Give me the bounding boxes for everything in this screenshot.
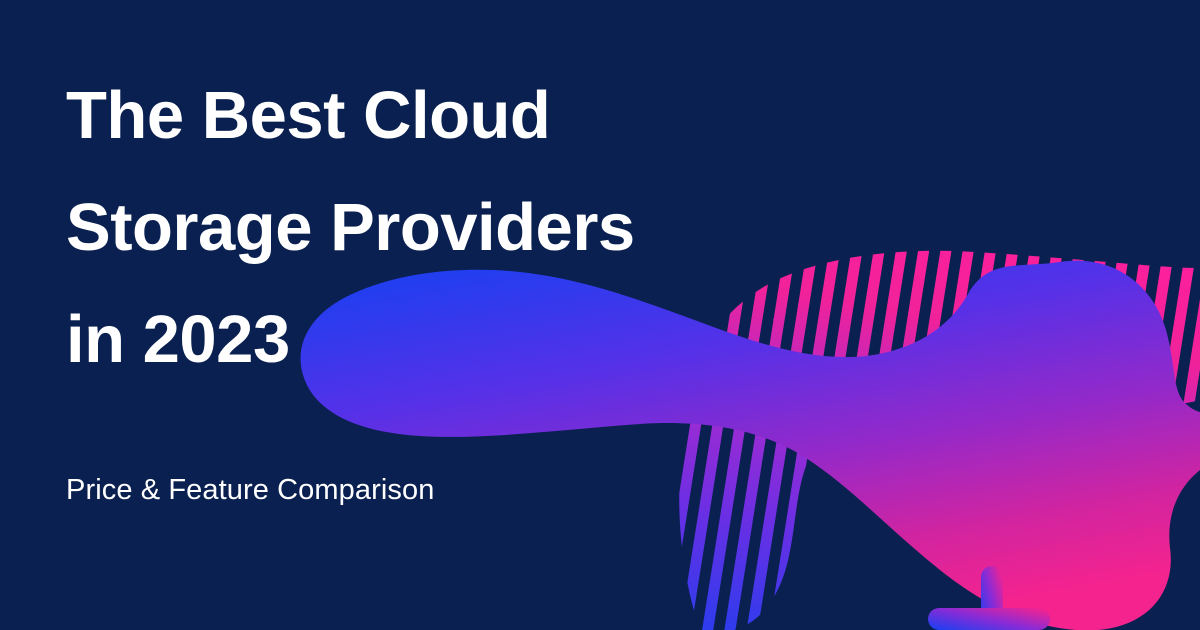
headline-line-1: The Best Cloud <box>66 60 706 172</box>
headline-line-3: in 2023 <box>66 284 706 396</box>
page-title: The Best Cloud Storage Providers in 2023 <box>66 60 706 396</box>
headline-block: The Best Cloud Storage Providers in 2023 <box>66 60 706 396</box>
subtitle: Price & Feature Comparison <box>66 471 434 509</box>
plus-shape <box>928 566 1050 630</box>
cloud-storage-banner: The Best Cloud Storage Providers in 2023… <box>0 0 1200 630</box>
headline-line-2: Storage Providers <box>66 172 706 284</box>
